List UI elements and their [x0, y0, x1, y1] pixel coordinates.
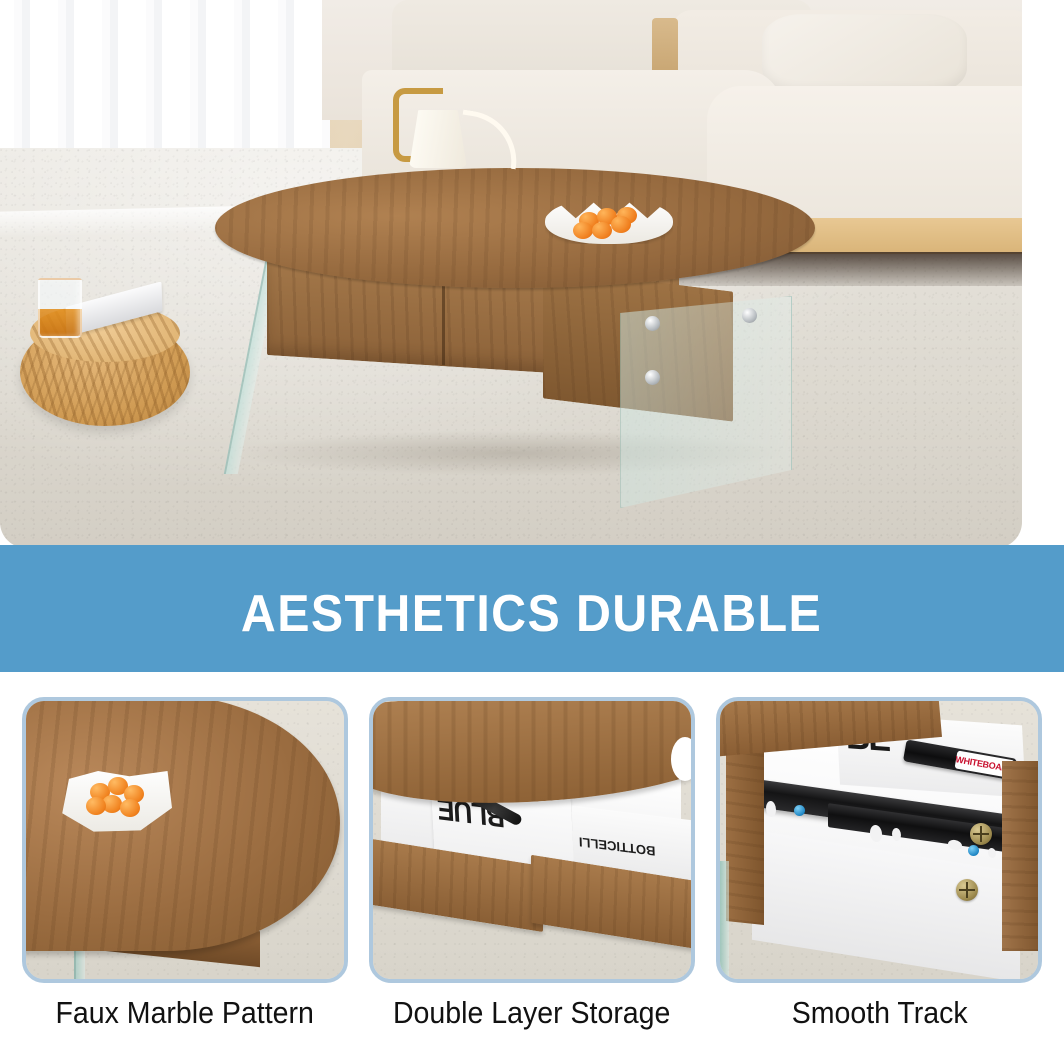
wood-frame-right	[1002, 761, 1042, 951]
oval-tabletop	[215, 168, 815, 288]
hero-image-frame	[0, 0, 1022, 548]
coffee-table	[215, 168, 815, 488]
fruit-dish	[60, 767, 172, 833]
banner-title: AESTHETICS DURABLE	[241, 584, 822, 644]
kumquat	[592, 222, 612, 239]
tabletop-notch	[671, 737, 695, 781]
kumquat	[611, 216, 631, 233]
book-text: BOTTICELLI	[579, 834, 656, 859]
feature-panels: BLUE BOTTICELLI BE WHITEBOARD	[0, 697, 1064, 987]
caption-double-layer-storage: Double Layer Storage	[382, 990, 681, 1050]
whisky-glass	[38, 278, 82, 338]
caption-smooth-track: Smooth Track	[730, 990, 1029, 1050]
kumquat	[573, 222, 593, 239]
fruit-dish	[545, 198, 673, 244]
sofa-wood-trim	[652, 18, 678, 78]
rail-hole	[892, 827, 901, 841]
drawer-knob	[742, 308, 757, 323]
rail-rivet	[794, 805, 805, 816]
glass-leg	[720, 861, 729, 983]
feature-panel-faux-marble-pattern[interactable]	[22, 697, 348, 983]
feature-panel-smooth-track[interactable]: BE WHITEBOARD	[716, 697, 1042, 983]
drawer-knob	[645, 316, 660, 331]
drawer-knob	[645, 370, 660, 385]
mounting-screw	[956, 879, 978, 901]
kumquat	[120, 799, 140, 817]
watering-can-body	[409, 110, 467, 168]
feature-captions: Faux Marble Pattern Double Layer Storage…	[0, 990, 1064, 1050]
sofa-pillow	[762, 14, 967, 94]
mounting-screw	[970, 823, 992, 845]
headline-banner: AESTHETICS DURABLE	[0, 545, 1064, 672]
rail-hole	[988, 847, 996, 858]
feature-panel-double-layer-storage[interactable]: BLUE BOTTICELLI	[369, 697, 695, 983]
hero-image	[0, 0, 1022, 548]
caption-faux-marble-pattern: Faux Marble Pattern	[35, 990, 334, 1050]
watering-can	[401, 88, 473, 170]
product-infographic: AESTHETICS DURABLE BLUE	[0, 0, 1064, 1064]
rail-hole	[766, 800, 776, 817]
rattan-pouf	[20, 300, 190, 430]
rail-rivet	[968, 845, 979, 856]
kumquat	[86, 797, 106, 815]
